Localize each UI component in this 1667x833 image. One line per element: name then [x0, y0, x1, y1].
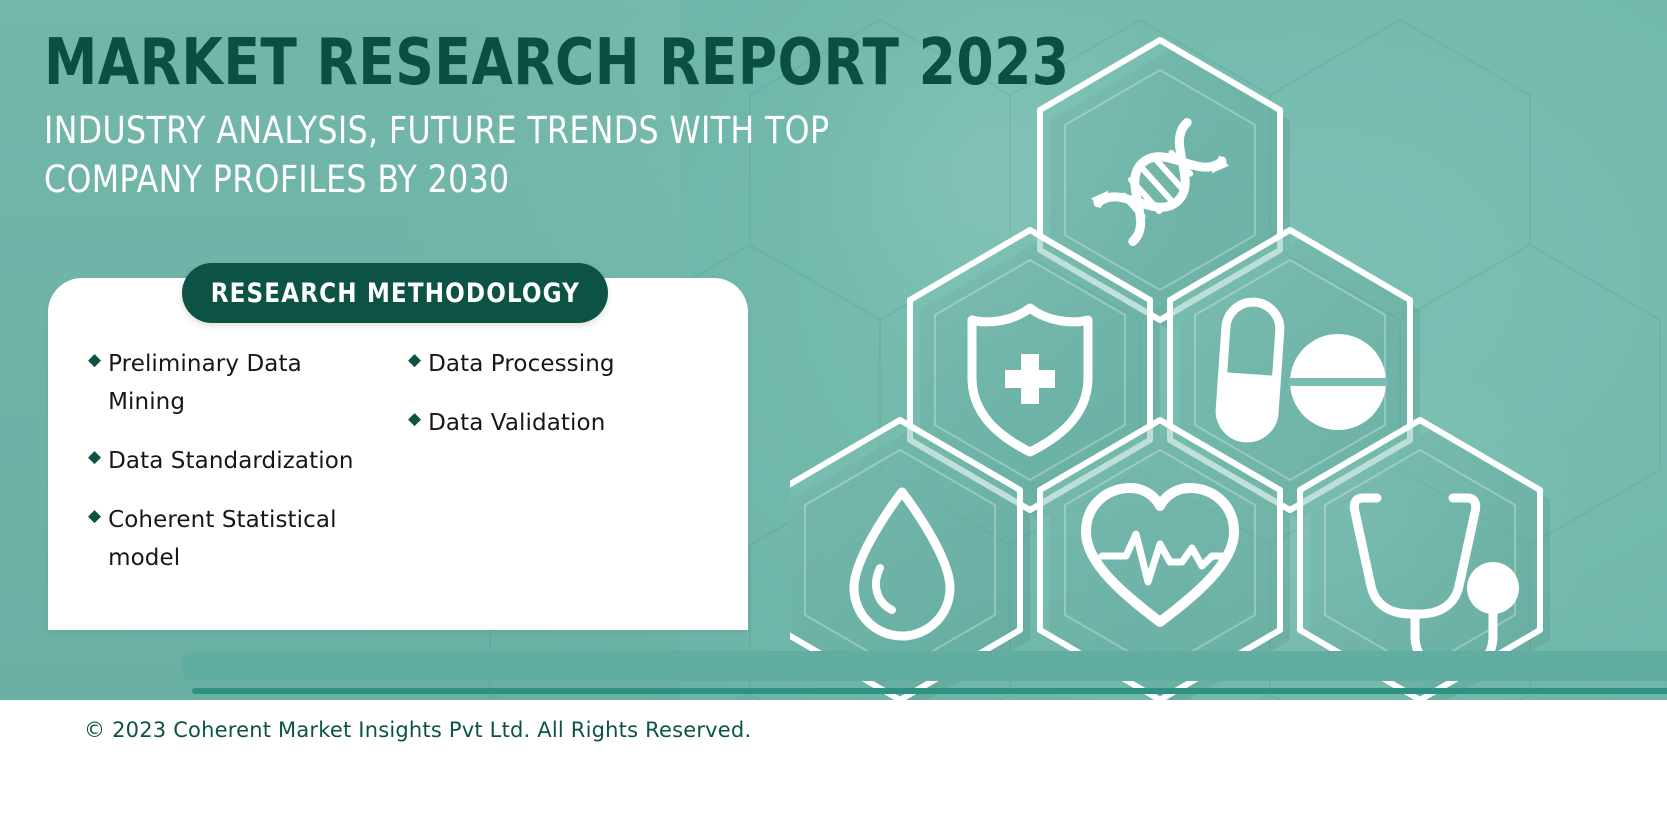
accent-bar: [182, 651, 1667, 681]
list-item: ◆ Data Validation: [408, 404, 698, 442]
list-item-label: Coherent Statistical model: [108, 501, 378, 577]
list-item: ◆ Data Processing: [408, 345, 698, 383]
badge-label: RESEARCH METHODOLOGY: [210, 278, 579, 309]
bullet-column-right: ◆ Data Processing ◆ Data Validation: [398, 345, 730, 625]
research-methodology-badge: RESEARCH METHODOLOGY: [182, 263, 608, 323]
list-item-label: Data Processing: [428, 345, 615, 383]
headline-block: MARKET RESEARCH REPORT 2023 INDUSTRY ANA…: [44, 26, 1044, 204]
methodology-bullet-list: ◆ Preliminary Data Mining ◆ Data Standar…: [48, 345, 748, 625]
copyright-text: © 2023 Coherent Market Insights Pvt Ltd.…: [84, 718, 751, 742]
list-item: ◆ Coherent Statistical model: [88, 501, 378, 577]
page-subtitle: INDUSTRY ANALYSIS, FUTURE TRENDS WITH TO…: [44, 106, 956, 204]
diamond-bullet-icon: ◆: [88, 442, 101, 472]
diamond-bullet-icon: ◆: [408, 345, 421, 375]
diamond-bullet-icon: ◆: [408, 404, 421, 434]
list-item: ◆ Data Standardization: [88, 442, 378, 480]
list-item-label: Data Validation: [428, 404, 605, 442]
page-title: MARKET RESEARCH REPORT 2023: [44, 26, 974, 100]
bullet-column-left: ◆ Preliminary Data Mining ◆ Data Standar…: [66, 345, 398, 625]
accent-bar-line: [192, 688, 1667, 694]
list-item: ◆ Preliminary Data Mining: [88, 345, 378, 421]
list-item-label: Preliminary Data Mining: [108, 345, 378, 421]
diamond-bullet-icon: ◆: [88, 345, 101, 375]
list-item-label: Data Standardization: [108, 442, 353, 480]
diamond-bullet-icon: ◆: [88, 501, 101, 531]
market-research-banner: MARKET RESEARCH REPORT 2023 INDUSTRY ANA…: [0, 0, 1667, 833]
